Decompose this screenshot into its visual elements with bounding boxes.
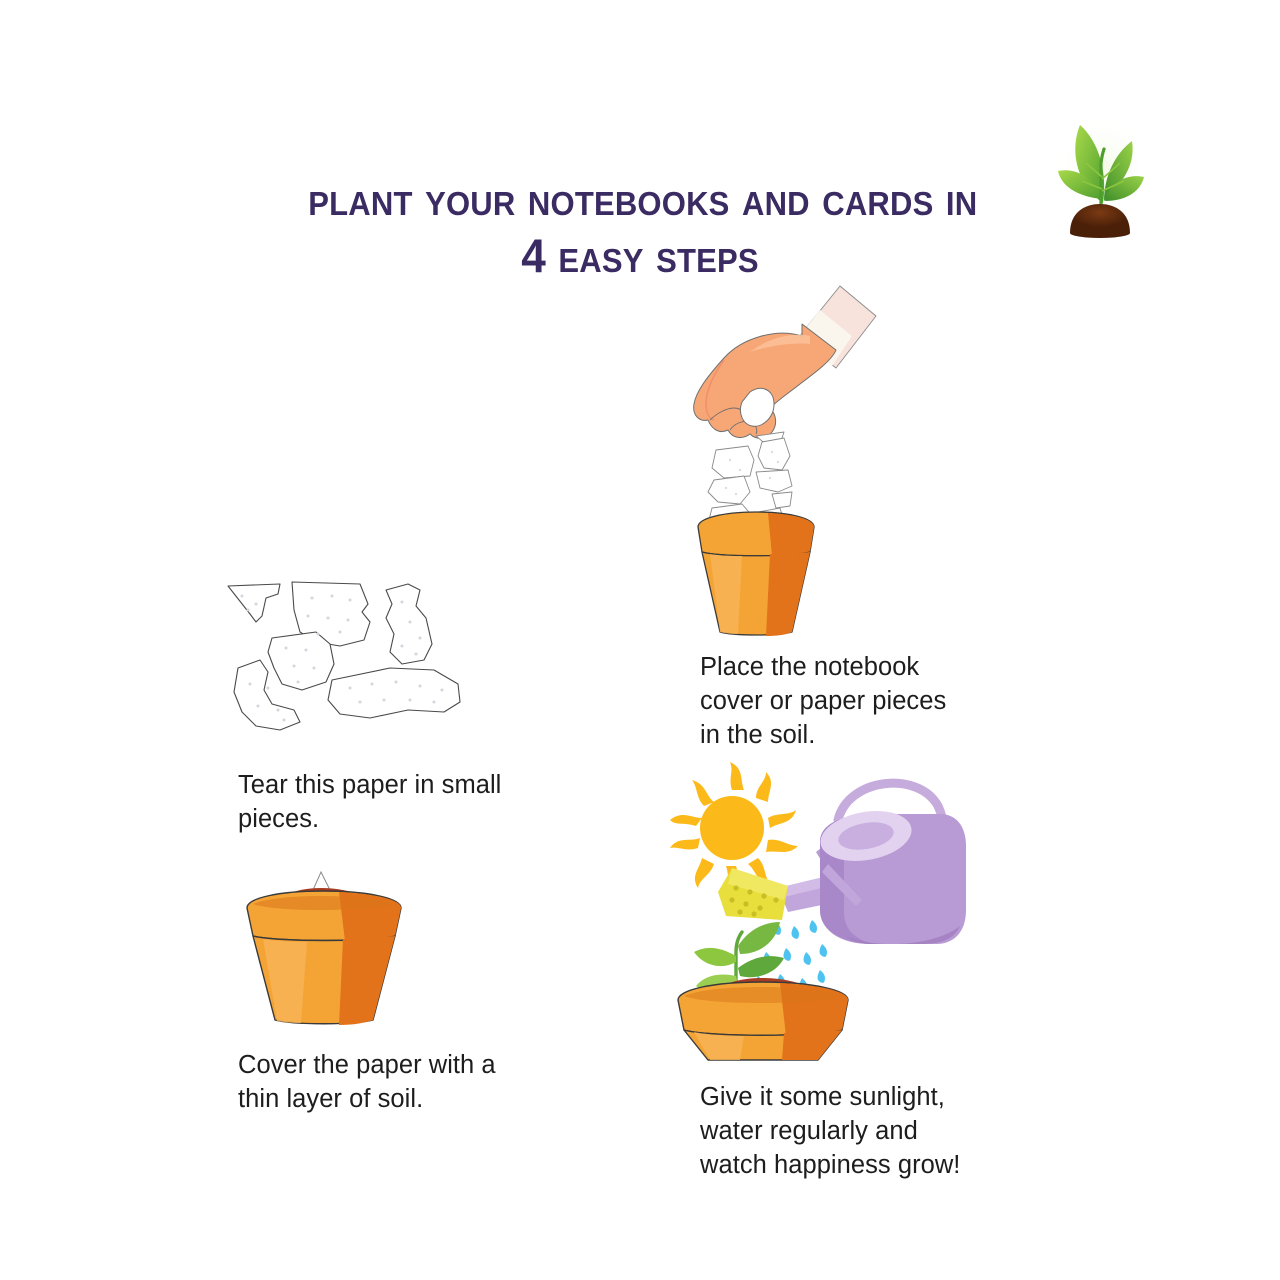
step-4: Give it some sunlight, water regularly a… (500, 760, 965, 1182)
steps-grid: Tear this paper in small pieces. (0, 270, 1280, 1280)
sun-watering-can-seedling-illustration (500, 760, 965, 1060)
step-1: Tear this paper in small pieces. (40, 410, 505, 836)
plant-pot (247, 891, 401, 1025)
plant-pot (698, 512, 814, 636)
step-3-caption: Cover the paper with a thin layer of soi… (40, 1048, 578, 1116)
step-2: Place the notebook cover or paper pieces… (500, 270, 965, 752)
hand-icon (694, 324, 836, 438)
spout-rose (718, 868, 788, 920)
step-2-caption: Place the notebook cover or paper pieces… (500, 650, 1020, 752)
step-3: Cover the paper with a thin layer of soi… (40, 870, 505, 1116)
hand-dropping-paper-into-pot-illustration (500, 270, 965, 630)
seedling-in-soil-logo-icon (1040, 105, 1160, 240)
plant-pot (678, 978, 848, 1060)
step-4-caption: Give it some sunlight, water regularly a… (500, 1080, 1040, 1182)
pot-with-soil-covering-paper-illustration (40, 870, 505, 1030)
torn-paper-pieces-illustration (40, 410, 505, 750)
step-1-caption: Tear this paper in small pieces. (40, 768, 578, 836)
